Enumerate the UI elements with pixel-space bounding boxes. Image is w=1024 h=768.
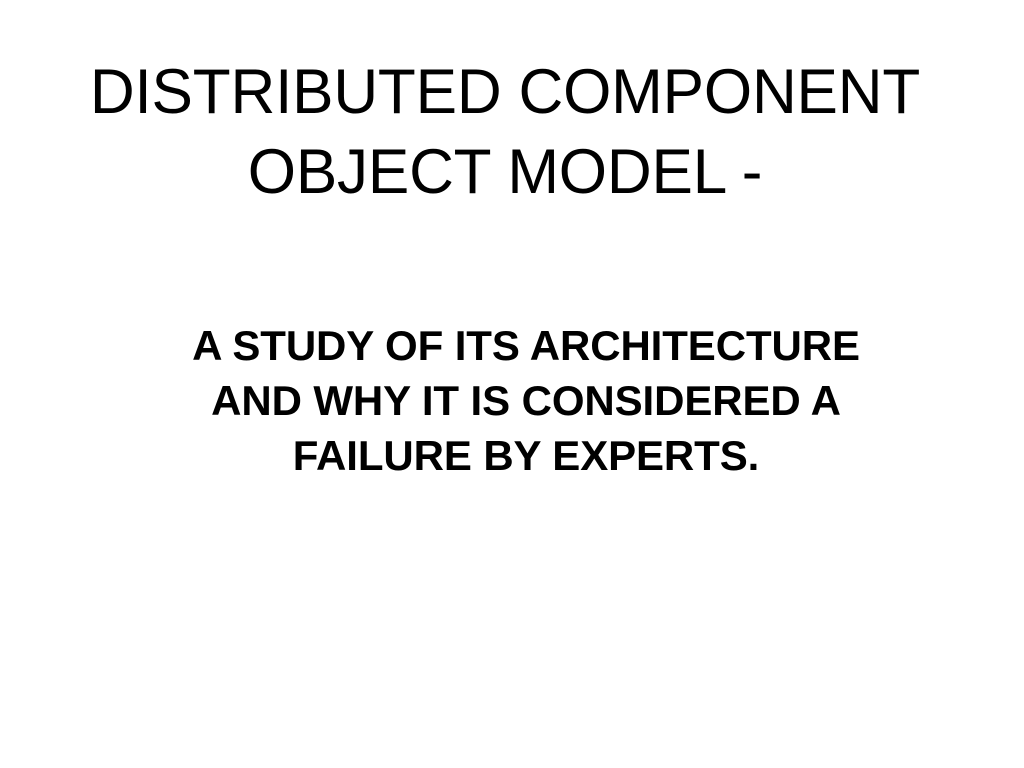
slide-subtitle-line-2: AND WHY IT IS CONSIDERED A	[54, 373, 998, 428]
slide-subtitle-inner: A STUDY OF ITS ARCHITECTURE AND WHY IT I…	[54, 318, 998, 483]
slide-subtitle-line-3: FAILURE BY EXPERTS.	[54, 428, 998, 483]
slide-title-line-2: OBJECT MODEL -	[40, 132, 970, 212]
presentation-slide: DISTRIBUTED COMPONENT OBJECT MODEL - A S…	[0, 0, 1024, 768]
slide-subtitle: A STUDY OF ITS ARCHITECTURE AND WHY IT I…	[0, 318, 1024, 483]
slide-title: DISTRIBUTED COMPONENT OBJECT MODEL -	[0, 52, 1024, 212]
slide-title-line-1: DISTRIBUTED COMPONENT	[40, 52, 970, 132]
slide-subtitle-line-1: A STUDY OF ITS ARCHITECTURE	[54, 318, 998, 373]
slide-empty-region	[0, 500, 1024, 768]
slide-title-inner: DISTRIBUTED COMPONENT OBJECT MODEL -	[33, 52, 977, 212]
